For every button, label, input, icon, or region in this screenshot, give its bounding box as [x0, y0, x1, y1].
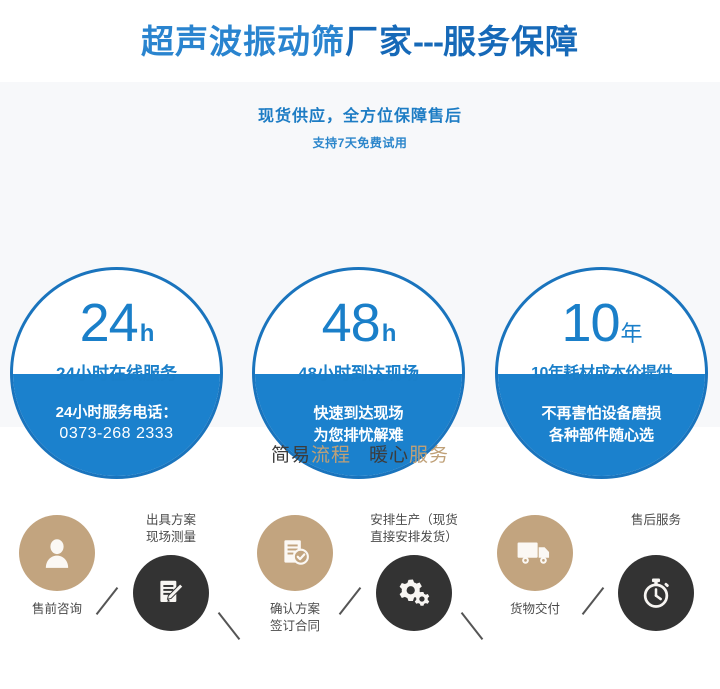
step-label-line1: 确认方案: [220, 601, 370, 618]
step-icon-circle: [19, 515, 95, 591]
hero-band: 现货供应，全方位保障售后 支持7天免费试用 24h 24小时在线服务 24小时服…: [0, 82, 720, 427]
badge-unit: h: [382, 322, 396, 346]
checklist-icon: [278, 536, 312, 570]
badge-detail-line2: 0373-268 2333: [13, 423, 220, 446]
page-header: 超声波振动筛厂家---服务保障: [0, 0, 720, 82]
badge-caption: 10年耗材成本价提供: [531, 359, 672, 383]
heading-dark-1: 简易: [271, 445, 311, 466]
heading-dark-2: 暖心: [369, 445, 409, 466]
title-part-2: 厂家: [345, 23, 413, 60]
badge-number: 24: [80, 296, 138, 350]
badge-number: 10: [561, 296, 619, 350]
badge-number-group: 24h: [80, 296, 154, 350]
badge-number: 48: [322, 296, 380, 350]
step-icon-circle: [497, 515, 573, 591]
badge-detail-line1: 不再害怕设备磨损: [498, 403, 705, 424]
heading-gold-1: 流程: [311, 445, 351, 466]
badge-detail-line1: 快速到达现场: [255, 403, 462, 424]
person-icon: [40, 536, 74, 570]
step-label-line1: 售后服务: [581, 512, 720, 529]
badge-number-group: 10年: [561, 296, 641, 350]
step-label: 售前咨询: [0, 601, 132, 618]
service-guarantee-page: 超声波振动筛厂家---服务保障 现货供应，全方位保障售后 支持7天免费试用 24…: [0, 0, 720, 689]
step-icon-circle: [257, 515, 333, 591]
title-part-3: 服务保障: [443, 23, 579, 60]
badge-detail: 快速到达现场 为您排忧解难: [255, 403, 462, 446]
step-label-line2: 现场测量: [96, 529, 246, 546]
badge-unit: 年: [621, 323, 642, 345]
gears-icon: [396, 575, 432, 611]
page-title: 超声波振动筛厂家---服务保障: [141, 25, 579, 58]
badge-detail-line1: 24小时服务电话：: [13, 402, 220, 423]
step-label-line1: 安排生产（现货: [339, 512, 489, 529]
badge-caption: 48小时到达现场: [298, 359, 419, 384]
truck-icon: [516, 534, 554, 572]
document-pen-icon: [154, 576, 188, 610]
step-label: 售后服务: [581, 512, 720, 529]
step-icon-circle: [133, 555, 209, 631]
step-icon-circle: [376, 555, 452, 631]
badge-detail: 24小时服务电话： 0373-268 2333: [13, 402, 220, 446]
step-label: 出具方案 现场测量: [96, 512, 246, 546]
hero-subtitle-sub: 支持7天免费试用: [0, 134, 720, 151]
title-dash: ---: [413, 23, 443, 60]
heading-gold-2: 服务: [409, 445, 449, 466]
step-label-line2: 直接安排发货）: [339, 529, 489, 546]
badge-caption: 24小时在线服务: [56, 359, 177, 384]
badge-detail-line2: 为您排忧解难: [255, 425, 462, 446]
badge-detail-line2: 各种部件随心选: [498, 425, 705, 446]
stopwatch-icon: [639, 576, 673, 610]
badge-unit: h: [140, 322, 154, 346]
step-icon-circle: [618, 555, 694, 631]
badge-detail: 不再害怕设备磨损 各种部件随心选: [498, 403, 705, 446]
step-label-line1: 售前咨询: [0, 601, 132, 618]
step-label: 安排生产（现货 直接安排发货）: [339, 512, 489, 546]
hero-subtitle-main: 现货供应，全方位保障售后: [0, 102, 720, 126]
step-label: 确认方案 签订合同: [220, 601, 370, 635]
step-label-line1: 出具方案: [96, 512, 246, 529]
step-label-line2: 签订合同: [220, 618, 370, 635]
step-label: 货物交付: [460, 601, 610, 618]
process-flow: 售前咨询 出具方案 现场测: [0, 505, 720, 689]
badge-number-group: 48h: [322, 296, 396, 350]
title-part-1: 超声波振动筛: [141, 23, 345, 60]
step-label-line1: 货物交付: [460, 601, 610, 618]
